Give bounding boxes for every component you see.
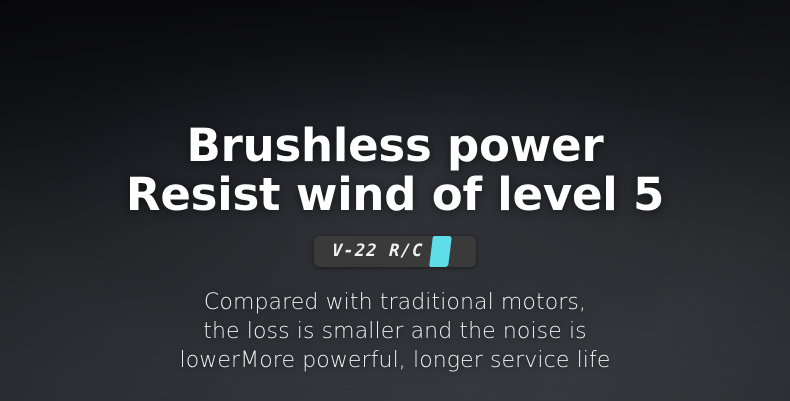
description-line-2: the loss is smaller and the noise is	[180, 317, 611, 346]
headline-line-2: Resist wind of level 5	[126, 170, 664, 219]
description-line-3: lowerMore powerful, longer service life	[180, 346, 611, 375]
description: Compared with traditional motors, the lo…	[180, 288, 611, 375]
headline-line-1: Brushless power	[126, 121, 664, 170]
description-line-1: Compared with traditional motors,	[180, 288, 611, 317]
badge-accent-bar-icon	[429, 236, 452, 267]
model-badge: V-22 R/C	[314, 236, 476, 267]
headline: Brushless power Resist wind of level 5	[126, 121, 664, 219]
product-hero-banner: Brushless power Resist wind of level 5 V…	[0, 0, 790, 401]
model-badge-wrap: V-22 R/C	[314, 236, 476, 267]
banner-content: Brushless power Resist wind of level 5 V…	[0, 0, 790, 401]
model-badge-label: V-22 R/C	[331, 243, 423, 260]
